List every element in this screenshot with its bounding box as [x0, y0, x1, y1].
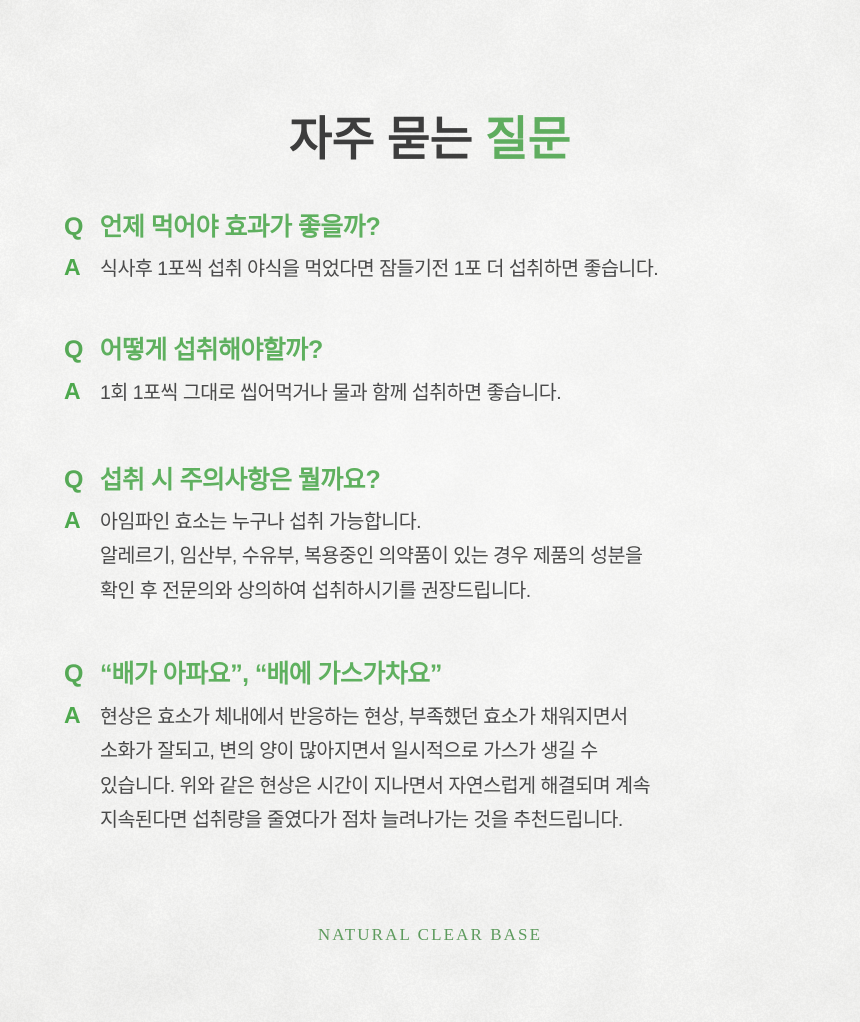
- answer-line: 소화가 잘되고, 변의 양이 많아지면서 일시적으로 가스가 생길 수: [100, 742, 650, 762]
- answer-line: 식사후 1포씩 섭취 야식을 먹었다면 잠들기전 1포 더 섭취하면 좋습니다.: [100, 260, 658, 280]
- section-gap: [64, 405, 804, 465]
- faq-answer-3: A 아임파인 효소는 누구나 섭취 가능합니다. 알레르기, 임산부, 수유부,…: [64, 507, 804, 602]
- faq-answer-1-body: 식사후 1포씩 섭취 야식을 먹었다면 잠들기전 1포 더 섭취하면 좋습니다.: [100, 260, 658, 280]
- page-content: 자주 묻는 질문 Q 언제 먹어야 효과가 좋을까? A 식사후 1포씩 섭취 …: [0, 0, 860, 1022]
- answer-line: 현상은 효소가 체내에서 반응하는 현상, 부족했던 효소가 채워지면서: [100, 708, 650, 728]
- page-title: 자주 묻는 질문: [0, 112, 860, 166]
- page-title-accent: 질문: [485, 112, 570, 165]
- question-marker-icon: Q: [64, 465, 100, 496]
- faq-item-2: Q 어떻게 섭취해야할까? A 1회 1포씩 그대로 씹어먹거나 물과 함께 섭…: [64, 335, 804, 404]
- faq-question-4-text: “배가 아파요”, “배에 가스가차요”: [100, 659, 442, 690]
- faq-item-1: Q 언제 먹어야 효과가 좋을까? A 식사후 1포씩 섭취 야식을 먹었다면 …: [64, 212, 804, 281]
- faq-item-3: Q 섭취 시 주의사항은 뭘까요? A 아임파인 효소는 누구나 섭취 가능합니…: [64, 465, 804, 602]
- faq-question-2: Q 어떻게 섭취해야할까?: [64, 335, 804, 366]
- question-marker-icon: Q: [64, 335, 100, 366]
- faq-answer-2: A 1회 1포씩 그대로 씹어먹거나 물과 함께 섭취하면 좋습니다.: [64, 378, 804, 405]
- faq-list: Q 언제 먹어야 효과가 좋을까? A 식사후 1포씩 섭취 야식을 먹었다면 …: [64, 212, 804, 831]
- faq-question-1: Q 언제 먹어야 효과가 좋을까?: [64, 212, 804, 243]
- faq-answer-2-body: 1회 1포씩 그대로 씹어먹거나 물과 함께 섭취하면 좋습니다.: [100, 384, 561, 404]
- answer-line: 1회 1포씩 그대로 씹어먹거나 물과 함께 섭취하면 좋습니다.: [100, 384, 561, 404]
- faq-question-4: Q “배가 아파요”, “배에 가스가차요”: [64, 659, 804, 690]
- faq-question-1-text: 언제 먹어야 효과가 좋을까?: [100, 212, 380, 243]
- faq-answer-4: A 현상은 효소가 체내에서 반응하는 현상, 부족했던 효소가 채워지면서 소…: [64, 702, 804, 831]
- answer-marker-icon: A: [64, 507, 100, 534]
- answer-line: 확인 후 전문의와 상의하여 섭취하시기를 권장드립니다.: [100, 582, 642, 602]
- answer-line: 지속된다면 섭취량을 줄였다가 점차 늘려나가는 것을 추천드립니다.: [100, 811, 650, 831]
- answer-line: 알레르기, 임산부, 수유부, 복용중인 의약품이 있는 경우 제품의 성분을: [100, 547, 642, 567]
- question-marker-icon: Q: [64, 659, 100, 690]
- faq-question-3: Q 섭취 시 주의사항은 뭘까요?: [64, 465, 804, 496]
- faq-answer-1: A 식사후 1포씩 섭취 야식을 먹었다면 잠들기전 1포 더 섭취하면 좋습니…: [64, 254, 804, 281]
- page-title-plain: 자주 묻는: [289, 112, 485, 165]
- question-marker-icon: Q: [64, 212, 100, 243]
- answer-marker-icon: A: [64, 254, 100, 281]
- answer-marker-icon: A: [64, 702, 100, 729]
- faq-question-2-text: 어떻게 섭취해야할까?: [100, 335, 323, 366]
- answer-line: 있습니다. 위와 같은 현상은 시간이 지나면서 자연스럽게 해결되며 계속: [100, 777, 650, 797]
- section-gap: [64, 601, 804, 659]
- section-gap: [64, 281, 804, 335]
- faq-page: 자주 묻는 질문 Q 언제 먹어야 효과가 좋을까? A 식사후 1포씩 섭취 …: [0, 0, 860, 1022]
- answer-marker-icon: A: [64, 378, 100, 405]
- faq-item-4: Q “배가 아파요”, “배에 가스가차요” A 현상은 효소가 체내에서 반응…: [64, 659, 804, 830]
- faq-answer-3-body: 아임파인 효소는 누구나 섭취 가능합니다. 알레르기, 임산부, 수유부, 복…: [100, 513, 642, 602]
- faq-question-3-text: 섭취 시 주의사항은 뭘까요?: [100, 465, 380, 496]
- answer-line: 아임파인 효소는 누구나 섭취 가능합니다.: [100, 513, 642, 533]
- faq-answer-4-body: 현상은 효소가 체내에서 반응하는 현상, 부족했던 효소가 채워지면서 소화가…: [100, 708, 650, 831]
- footer-brand: NATURAL CLEAR BASE: [0, 925, 860, 945]
